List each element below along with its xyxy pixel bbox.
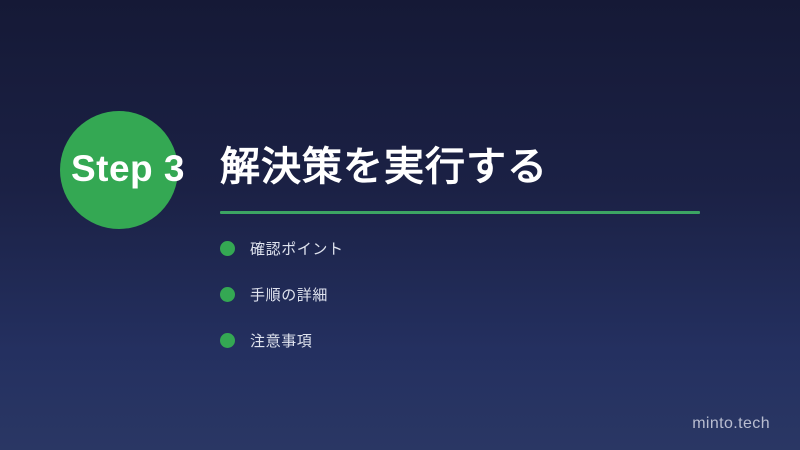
bullet-dot-icon — [220, 333, 235, 348]
footer-brand: minto.tech — [692, 415, 770, 433]
bullet-label: 確認ポイント — [250, 238, 344, 259]
slide-canvas: Step 3 解決策を実行する 確認ポイント 手順の詳細 注意事項 minto.… — [0, 0, 800, 450]
list-item: 注意事項 — [220, 325, 344, 355]
slide-title: 解決策を実行する — [220, 144, 548, 190]
list-item: 確認ポイント — [220, 233, 344, 263]
list-item: 手順の詳細 — [220, 279, 344, 309]
step-badge-label: Step 3 — [48, 150, 208, 189]
bullet-dot-icon — [220, 287, 235, 302]
bullet-dot-icon — [220, 241, 235, 256]
bullet-label: 手順の詳細 — [250, 284, 328, 305]
title-divider — [220, 211, 700, 214]
bullet-list: 確認ポイント 手順の詳細 注意事項 — [220, 233, 344, 371]
bullet-label: 注意事項 — [250, 330, 312, 351]
